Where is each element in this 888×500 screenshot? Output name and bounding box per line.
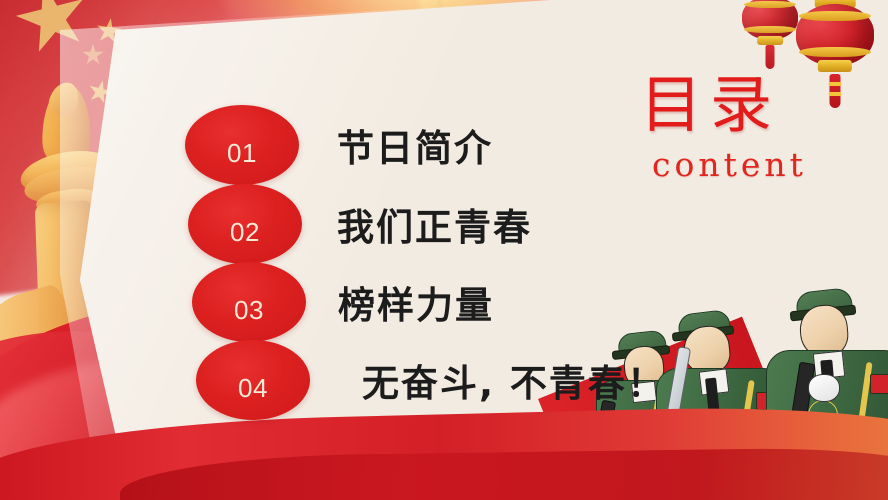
page-subtitle: content xyxy=(640,145,860,184)
list-item[interactable]: 02 我们正青春 xyxy=(188,184,532,264)
menu-number-badge[interactable]: 02 xyxy=(188,184,302,264)
presentation-slide: 01 节日简介 02 我们正青春 03 榜样力量 04 无奋斗, 不青春！ 目录… xyxy=(0,0,888,500)
menu-label: 我们正青春 xyxy=(337,197,532,251)
list-item[interactable]: 04 无奋斗, 不青春！ xyxy=(196,340,666,420)
title-block: 目录 content xyxy=(640,72,860,184)
menu-label: 无奋斗, 不青春！ xyxy=(362,353,666,407)
menu-number: 02 xyxy=(230,217,260,264)
page-title: 目录 xyxy=(640,72,860,137)
menu-number-badge[interactable]: 04 xyxy=(196,340,310,420)
list-item[interactable]: 03 榜样力量 xyxy=(192,262,494,342)
list-item[interactable]: 01 节日简介 xyxy=(185,105,493,185)
menu-label: 节日简介 xyxy=(337,118,493,172)
menu-number-badge[interactable]: 03 xyxy=(192,262,306,342)
menu-number: 04 xyxy=(238,373,268,420)
menu-number: 01 xyxy=(227,138,257,185)
menu-number-badge[interactable]: 01 xyxy=(185,105,299,185)
menu-label: 榜样力量 xyxy=(338,275,494,329)
menu-number: 03 xyxy=(234,295,264,342)
